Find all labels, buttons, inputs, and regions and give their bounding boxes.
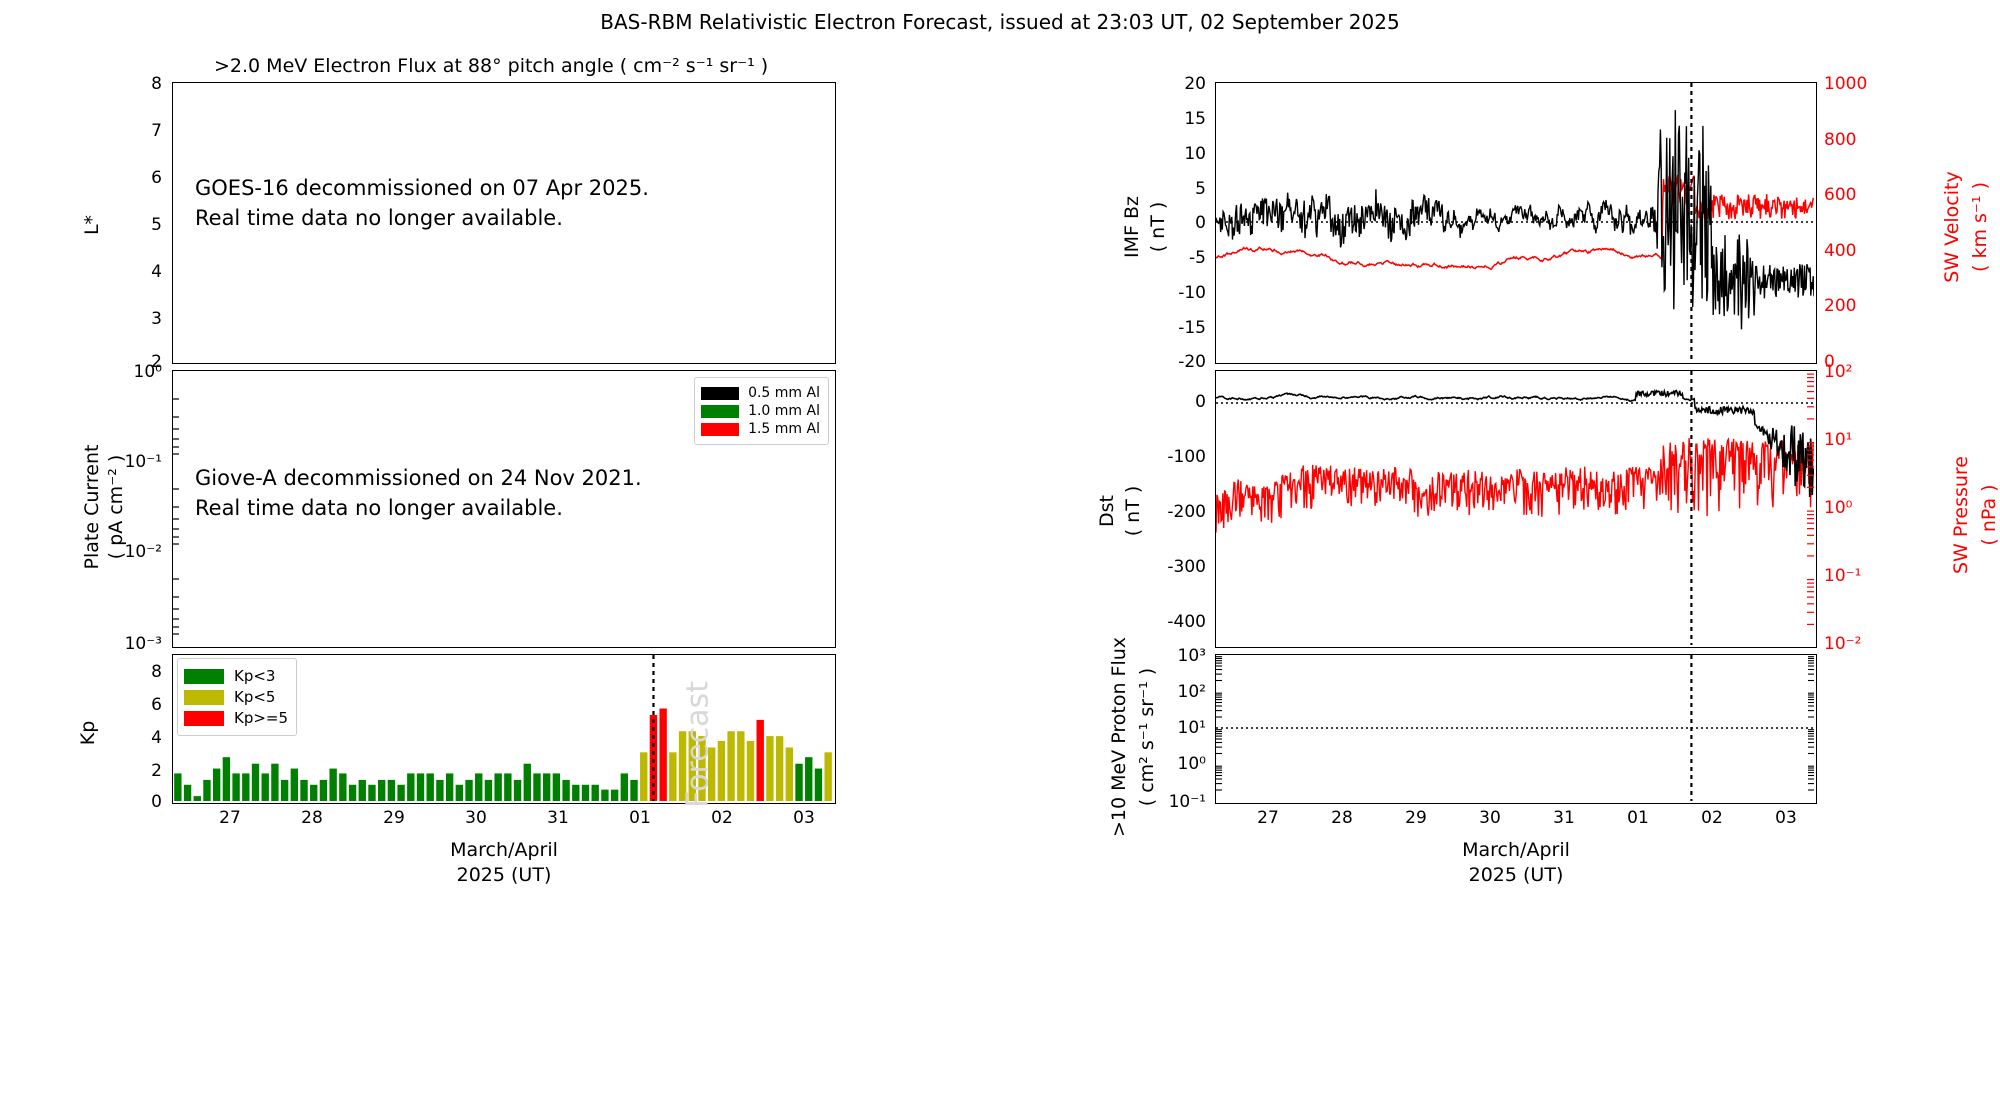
ytick: 7 bbox=[120, 121, 162, 141]
kp-bar bbox=[611, 790, 618, 801]
panel-imf-bz bbox=[1215, 82, 1817, 364]
ytick: 10⁰ bbox=[104, 362, 162, 382]
kp-bar bbox=[281, 780, 288, 801]
ytick: 3 bbox=[120, 309, 162, 329]
imf-bz-axis-label-line1: IMF Bz bbox=[1121, 157, 1143, 297]
imf-bz-plot bbox=[1216, 83, 1814, 361]
legend-swatch-green bbox=[184, 669, 224, 684]
legend-label: Kp<5 bbox=[234, 688, 275, 706]
kp-bar bbox=[669, 752, 676, 801]
kp-bar bbox=[194, 796, 201, 801]
sw-velocity-axis-label-line1: SW Velocity bbox=[1941, 137, 1963, 317]
kp-bar bbox=[640, 752, 647, 801]
kp-bar bbox=[310, 785, 317, 801]
kp-xaxis-caption: March/April 2025 (UT) bbox=[172, 838, 836, 887]
panel-proton-flux bbox=[1215, 654, 1817, 804]
kp-bar bbox=[349, 785, 356, 801]
kp-bar bbox=[485, 780, 492, 801]
proton-flux-xaxis: 27 28 29 30 31 01 02 03 bbox=[1215, 808, 1817, 834]
legend-item: Kp<3 bbox=[184, 667, 288, 685]
xtick: 02 bbox=[1701, 808, 1723, 828]
kp-bar bbox=[174, 773, 181, 801]
ytick: 10⁻¹ bbox=[1824, 566, 1861, 586]
ytick: 4 bbox=[120, 262, 162, 282]
xtick: 30 bbox=[465, 808, 487, 828]
kp-bar bbox=[368, 785, 375, 801]
kp-bar bbox=[815, 769, 822, 801]
proton-flux-axis-label-line2: ( cm² s⁻¹ sr⁻¹ ) bbox=[1136, 592, 1158, 882]
legend-swatch-black bbox=[701, 387, 739, 400]
ytick: 8 bbox=[120, 662, 162, 682]
kp-bar bbox=[203, 780, 210, 801]
kp-bar bbox=[533, 773, 540, 801]
dst-plot bbox=[1216, 371, 1814, 645]
plate-current-legend: 0.5 mm Al 1.0 mm Al 1.5 mm Al bbox=[694, 377, 829, 445]
ytick: 200 bbox=[1824, 296, 1856, 316]
ytick: 6 bbox=[120, 168, 162, 188]
kp-bar bbox=[436, 780, 443, 801]
ytick: 4 bbox=[120, 728, 162, 748]
kp-bar bbox=[621, 773, 628, 801]
ytick: 600 bbox=[1824, 185, 1856, 205]
lstar-message-line2: Real time data no longer available. bbox=[195, 203, 563, 233]
kp-bar bbox=[504, 773, 511, 801]
xtick: 27 bbox=[1257, 808, 1279, 828]
kp-bar bbox=[388, 780, 395, 801]
lstar-yaxis: 8 7 6 5 4 3 2 bbox=[120, 82, 166, 364]
kp-xaxis-caption-line2: 2025 (UT) bbox=[172, 863, 836, 888]
xtick: 31 bbox=[1553, 808, 1575, 828]
proton-flux-xaxis-caption: March/April 2025 (UT) bbox=[1215, 838, 1817, 887]
ytick: 0 bbox=[120, 792, 162, 812]
ytick: 1000 bbox=[1824, 74, 1867, 94]
kp-bar bbox=[786, 747, 793, 801]
kp-xaxis-caption-line1: March/April bbox=[172, 838, 836, 863]
imf-bz-axis-label-line2: ( nT ) bbox=[1147, 157, 1169, 297]
electron-flux-subtitle: >2.0 MeV Electron Flux at 88° pitch angl… bbox=[214, 55, 768, 77]
xtick: 01 bbox=[629, 808, 651, 828]
legend-label: 0.5 mm Al bbox=[748, 385, 820, 401]
kp-bar bbox=[407, 773, 414, 801]
panel-lstar: GOES-16 decommissioned on 07 Apr 2025. R… bbox=[172, 82, 836, 364]
kp-bar bbox=[718, 741, 725, 801]
sw-velocity-axis-label-line2: ( km s⁻¹ ) bbox=[1969, 137, 1991, 317]
kp-yaxis: 8 6 4 2 0 bbox=[120, 654, 166, 804]
kp-bar bbox=[339, 773, 346, 801]
lstar-axis-label: L* bbox=[81, 195, 103, 255]
ytick: 15 bbox=[1148, 109, 1206, 129]
plate-current-axis-label-line1: Plate Current bbox=[81, 417, 103, 597]
ytick: 5 bbox=[120, 215, 162, 235]
ytick: 10⁻² bbox=[1824, 634, 1861, 654]
legend-item: 1.5 mm Al bbox=[701, 421, 820, 437]
kp-bar bbox=[252, 764, 259, 801]
legend-label: Kp>=5 bbox=[234, 709, 288, 727]
kp-bar bbox=[213, 769, 220, 801]
kp-bar bbox=[184, 785, 191, 801]
xtick: 03 bbox=[1775, 808, 1797, 828]
plate-message-line2: Real time data no longer available. bbox=[195, 493, 563, 523]
legend-label: 1.5 mm Al bbox=[748, 421, 820, 437]
sw-velocity-yaxis: 1000 800 600 400 200 0 bbox=[1824, 82, 1886, 364]
kp-bar bbox=[824, 752, 831, 801]
kp-bar bbox=[592, 785, 599, 801]
ytick: 400 bbox=[1824, 241, 1856, 261]
ytick: -20 bbox=[1148, 352, 1206, 372]
kp-bar bbox=[359, 780, 366, 801]
ytick: 8 bbox=[120, 74, 162, 94]
xtick: 29 bbox=[1405, 808, 1427, 828]
xtick: 27 bbox=[219, 808, 241, 828]
xtick: 29 bbox=[383, 808, 405, 828]
kp-bar bbox=[562, 780, 569, 801]
kp-bar bbox=[494, 773, 501, 801]
kp-bar bbox=[427, 773, 434, 801]
panel-plate-current: Giove-A decommissioned on 24 Nov 2021. R… bbox=[172, 370, 836, 648]
panel-dst bbox=[1215, 370, 1817, 648]
ytick: 20 bbox=[1148, 74, 1206, 94]
kp-bar bbox=[242, 773, 249, 801]
kp-bar bbox=[747, 741, 754, 801]
legend-item: Kp<5 bbox=[184, 688, 288, 706]
legend-item: 1.0 mm Al bbox=[701, 403, 820, 419]
kp-bar bbox=[475, 773, 482, 801]
legend-label: Kp<3 bbox=[234, 667, 275, 685]
kp-bar bbox=[582, 785, 589, 801]
kp-bar bbox=[329, 769, 336, 801]
kp-bar bbox=[465, 780, 472, 801]
xtick: 03 bbox=[793, 808, 815, 828]
page-title: BAS-RBM Relativistic Electron Forecast, … bbox=[0, 10, 2000, 34]
kp-bar bbox=[300, 780, 307, 801]
legend-item: 0.5 mm Al bbox=[701, 385, 820, 401]
kp-axis-label: Kp bbox=[77, 703, 99, 763]
xtick: 28 bbox=[1331, 808, 1353, 828]
proton-flux-xaxis-caption-line1: March/April bbox=[1215, 838, 1817, 863]
legend-item: Kp>=5 bbox=[184, 709, 288, 727]
kp-bar bbox=[262, 773, 269, 801]
kp-bar bbox=[659, 709, 666, 801]
panel-kp: Forecast Kp<3 Kp<5 Kp>=5 bbox=[172, 654, 836, 804]
proton-flux-xaxis-caption-line2: 2025 (UT) bbox=[1215, 863, 1817, 888]
kp-xaxis: 27 28 29 30 31 01 02 03 bbox=[172, 808, 836, 834]
xtick: 31 bbox=[547, 808, 569, 828]
ytick: 6 bbox=[120, 695, 162, 715]
xtick: 30 bbox=[1479, 808, 1501, 828]
ytick: 0 bbox=[1128, 392, 1206, 412]
kp-bar bbox=[446, 773, 453, 801]
proton-flux-plot bbox=[1216, 655, 1814, 801]
xtick: 01 bbox=[1627, 808, 1649, 828]
kp-bar bbox=[572, 785, 579, 801]
sw-pressure-axis-label-line1: SW Pressure bbox=[1950, 420, 1972, 610]
kp-bar bbox=[601, 790, 608, 801]
kp-bar bbox=[223, 757, 230, 801]
dst-axis-label-line1: Dst bbox=[1096, 446, 1118, 576]
dst-axis-label-line2: ( nT ) bbox=[1122, 446, 1144, 576]
kp-bar bbox=[766, 736, 773, 801]
legend-swatch-olive bbox=[184, 690, 224, 705]
kp-bar bbox=[417, 773, 424, 801]
kp-bar bbox=[456, 785, 463, 801]
legend-swatch-green bbox=[701, 405, 739, 418]
legend-label: 1.0 mm Al bbox=[748, 403, 820, 419]
kp-bar bbox=[271, 764, 278, 801]
kp-bar bbox=[514, 780, 521, 801]
ytick: 2 bbox=[120, 761, 162, 781]
legend-swatch-red bbox=[701, 423, 739, 436]
ytick: 10² bbox=[1824, 362, 1852, 382]
lstar-message-line1: GOES-16 decommissioned on 07 Apr 2025. bbox=[195, 173, 649, 203]
kp-bar bbox=[553, 773, 560, 801]
ytick: 800 bbox=[1824, 130, 1856, 150]
plate-message-line1: Giove-A decommissioned on 24 Nov 2021. bbox=[195, 463, 642, 493]
ytick: 10¹ bbox=[1824, 430, 1852, 450]
kp-bar bbox=[805, 757, 812, 801]
sw-pressure-axis-label-line2: ( nPa ) bbox=[1978, 420, 2000, 610]
proton-flux-axis-label-line1: >10 MeV Proton Flux bbox=[1108, 592, 1130, 882]
kp-bar bbox=[378, 780, 385, 801]
plate-current-axis-label-line2: ( pA cm⁻² ) bbox=[105, 417, 127, 597]
kp-bar bbox=[795, 764, 802, 801]
kp-bar bbox=[737, 731, 744, 801]
kp-bar bbox=[630, 780, 637, 801]
xtick: 02 bbox=[711, 808, 733, 828]
kp-legend: Kp<3 Kp<5 Kp>=5 bbox=[177, 658, 297, 736]
legend-swatch-red bbox=[184, 711, 224, 726]
kp-bar bbox=[232, 773, 239, 801]
kp-bar bbox=[757, 720, 764, 801]
kp-bar bbox=[397, 785, 404, 801]
kp-bar bbox=[524, 764, 531, 801]
sw-pressure-yaxis: 10² 10¹ 10⁰ 10⁻¹ 10⁻² bbox=[1824, 370, 1886, 648]
kp-bar bbox=[543, 773, 550, 801]
ytick: 10⁰ bbox=[1824, 498, 1852, 518]
kp-bar bbox=[776, 736, 783, 801]
kp-bar bbox=[727, 731, 734, 801]
kp-bar bbox=[320, 780, 327, 801]
ytick: -15 bbox=[1148, 318, 1206, 338]
kp-forecast-watermark: Forecast bbox=[681, 675, 716, 815]
ytick: 10⁻³ bbox=[104, 634, 162, 654]
xtick: 28 bbox=[301, 808, 323, 828]
kp-bar bbox=[291, 769, 298, 801]
